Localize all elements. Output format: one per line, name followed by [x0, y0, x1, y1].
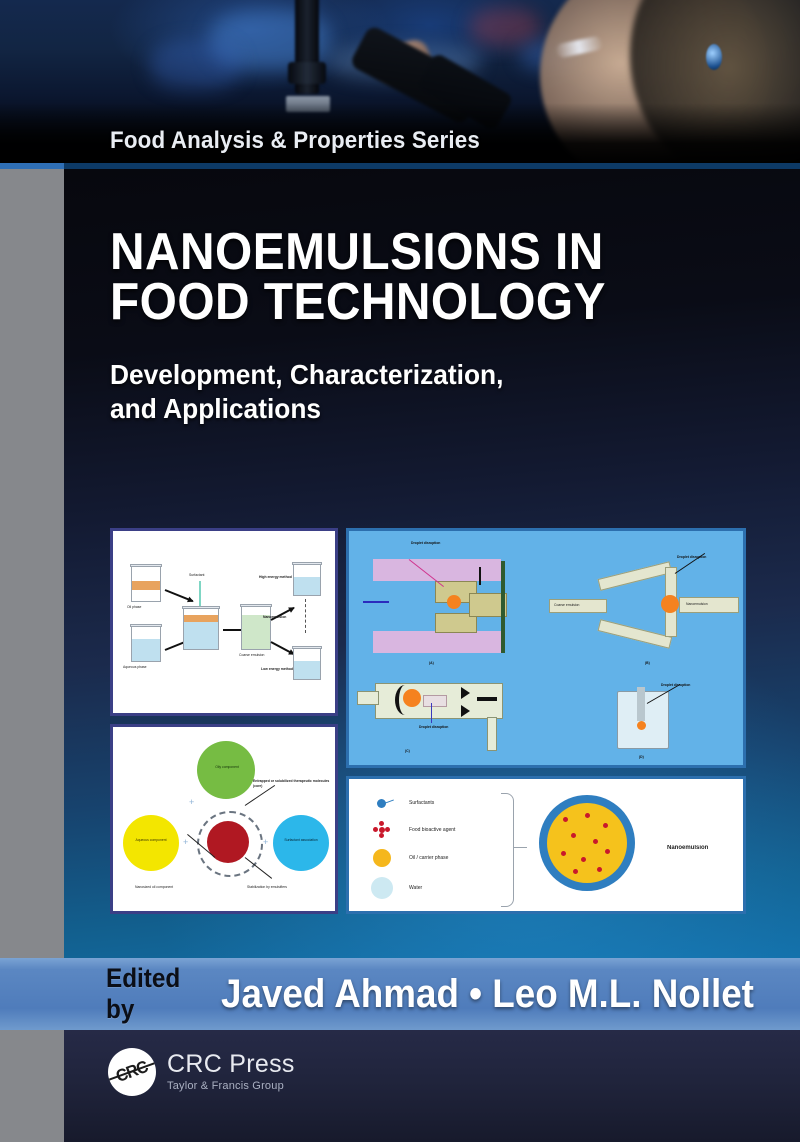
panel-marker-b: (B): [645, 661, 650, 665]
channel-inlet: Coarse emulsion: [549, 599, 607, 613]
legend-swatch-water: [371, 877, 393, 899]
rotor-blade: [461, 705, 470, 717]
homogenizer-rod: [501, 561, 505, 653]
panel-marker-a: (A): [429, 661, 434, 665]
flow-arrow: [271, 641, 295, 655]
node-aqueous-component: Aqueous component: [123, 815, 179, 871]
brace-arrow: [513, 847, 527, 848]
crc-badge-icon: CRC: [108, 1048, 156, 1096]
channel-outlet: Nanoemulsion: [679, 597, 739, 613]
title-block: NANOEMULSIONS IN FOOD TECHNOLOGY Develop…: [110, 228, 730, 426]
plus-sign: +: [183, 837, 188, 847]
page-subtitle: Development, Characterization, and Appli…: [110, 358, 693, 426]
legend-swatch-bioactive: [375, 823, 389, 837]
header-rule: [64, 163, 800, 169]
label-center-core: Entrapped or solubilized therapeutic mol…: [253, 779, 331, 788]
channel-branch-upper: [598, 561, 673, 591]
publisher-name: CRC Press: [167, 1052, 295, 1077]
legend-swatch-oil: [373, 849, 391, 867]
inlet-arrow: [363, 601, 389, 603]
annotation-droplet-disruption: Droplet disruption: [419, 725, 459, 729]
label-stabilization: Stabilization by emulsifiers: [247, 885, 287, 889]
label-nanosized-oil: Nanosized oil component: [135, 885, 173, 889]
panel-high-energy-methods: Droplet disruption (A) Coarse emulsion N…: [346, 528, 746, 768]
channel-branch-lower: [598, 619, 673, 649]
node-oily-component: Oily component: [197, 741, 255, 799]
book-cover: Food Analysis & Properties Series NANOEM…: [0, 0, 800, 1142]
connector-line: [305, 599, 307, 633]
publisher-footer: CRC CRC Press Taylor & Francis Group: [64, 1030, 800, 1142]
photo-blur-blob: [470, 8, 540, 46]
beaker-oil-phase: [131, 567, 161, 602]
photo-blur-blob: [150, 40, 240, 90]
droplet-orange: [447, 595, 461, 609]
publisher-imprint: Taylor & Francis Group: [167, 1081, 295, 1092]
homogenizer-lower-block: [373, 631, 501, 653]
label-coarse-emulsion: Coarse emulsion: [239, 653, 264, 657]
node-surfactant-association: Surfactant association: [273, 815, 329, 871]
panel-marker-d: (D): [639, 755, 644, 759]
mill-stator: [423, 695, 447, 707]
subtitle-line-2: and Applications: [110, 392, 693, 426]
homogenizer-upper-block: [373, 559, 501, 581]
legend-label-oil: Oil / carrier phase: [409, 855, 448, 861]
mill-inlet: [357, 691, 379, 705]
annotation-droplet-disruption: Droplet disruption: [661, 683, 690, 687]
beaker-aqueous-phase: [131, 627, 161, 662]
label-high-energy: High energy method: [259, 575, 292, 579]
subtitle-line-1: Development, Characterization,: [110, 358, 693, 392]
flow-arrow: [165, 589, 194, 602]
rotor-blade: [461, 687, 470, 699]
spine-rule: [0, 163, 64, 169]
earring: [706, 44, 722, 70]
label-low-energy: Low energy method: [261, 667, 293, 671]
label-nanoemulsion: Nanoemulsion: [263, 615, 286, 619]
label-surfactant: Surfactant: [189, 573, 204, 577]
sonicator-probe: [637, 687, 645, 721]
crc-press-logo: CRC CRC Press Taylor & Francis Group: [108, 1048, 295, 1096]
panel-marker-c: (C): [405, 749, 410, 753]
series-label: Food Analysis & Properties Series: [110, 127, 480, 155]
title-line-2: FOOD TECHNOLOGY: [110, 278, 680, 328]
label-aqueous-phase: Aqueous phase: [123, 665, 147, 669]
label-nanoemulsion-result: Nanoemulsion: [667, 845, 708, 851]
author-band: Edited by Javed Ahmad • Leo M.L. Nollet: [0, 958, 800, 1030]
droplet-oil-core: [547, 803, 627, 883]
cover-photo-microscope: Food Analysis & Properties Series: [0, 0, 800, 165]
panel-emulsification-process: Oil phase Aqueous phase Surfactant Coars…: [110, 528, 338, 716]
annotation-droplet-disruption: Droplet disruption: [677, 555, 706, 559]
legend-label-bioactive: Food bioactive agent: [409, 827, 455, 833]
rotor-blade: [395, 685, 415, 715]
crc-badge-text: CRC: [113, 1057, 150, 1087]
plus-sign: +: [189, 797, 194, 807]
brace: [501, 793, 514, 907]
publisher-text: CRC Press Taylor & Francis Group: [167, 1052, 295, 1092]
legend-label-water: Water: [409, 885, 422, 891]
flow-arrow: [477, 697, 497, 701]
droplet-orange: [661, 595, 679, 613]
beaker-coarse-emulsion: [241, 607, 271, 650]
legend-label-surfactants: Surfactants: [409, 800, 434, 806]
outlet-arrow: [479, 567, 481, 585]
panel-nanoemulsion-benefits: Oily component Aqueous component Surfact…: [110, 724, 338, 914]
mill-outlet: [487, 717, 497, 751]
beaker-low-energy: [293, 649, 321, 680]
edited-by-label: Edited by: [106, 963, 197, 1025]
microscope-ring-icon: [288, 62, 326, 84]
annotation-droplet-disruption: Droplet disruption: [411, 541, 455, 545]
page-title: NANOEMULSIONS IN FOOD TECHNOLOGY: [110, 228, 680, 328]
author-names: Javed Ahmad • Leo M.L. Nollet: [221, 972, 754, 1017]
leader-line: [431, 703, 432, 723]
label-oil-phase: Oil phase: [127, 605, 141, 609]
plus-sign: +: [263, 837, 268, 847]
droplet-orange: [637, 721, 646, 730]
figure-collage: Oil phase Aqueous phase Surfactant Coars…: [110, 528, 746, 914]
beaker-mixing: [183, 609, 219, 650]
nanoemulsion-droplet: [539, 795, 635, 891]
title-line-1: NANOEMULSIONS IN: [110, 228, 680, 278]
panel-nanoemulsion-legend: Surfactants Food bioactive agent Oil / c…: [346, 776, 746, 914]
beaker-high-energy: [293, 565, 321, 596]
